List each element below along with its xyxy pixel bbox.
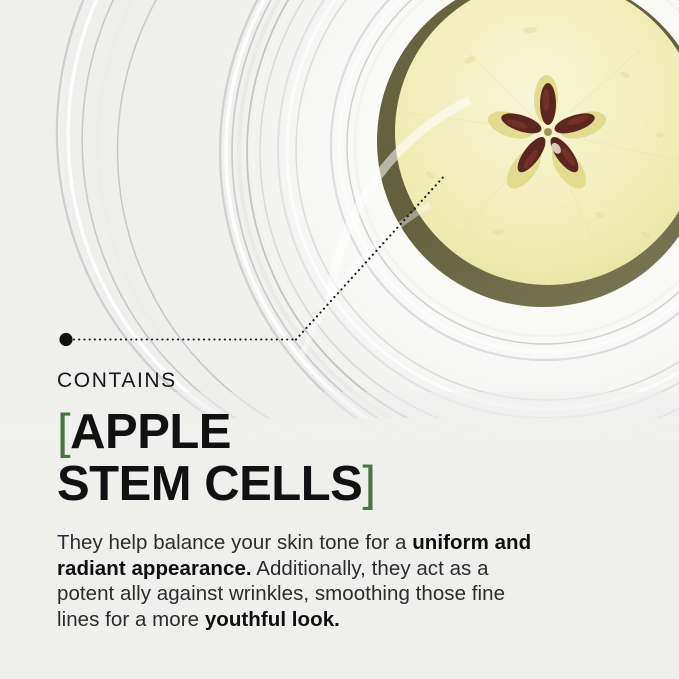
- body-bold-2: youthful look.: [205, 608, 340, 631]
- body-part-1: They help balance your skin tone for a: [57, 531, 412, 554]
- callout-dot: [59, 333, 72, 346]
- apple-carpels: [484, 75, 609, 195]
- close-bracket: ]: [362, 457, 375, 511]
- body-paragraph: They help balance your skin tone for a u…: [57, 530, 543, 632]
- headline-line-1: [APPLE: [57, 406, 617, 458]
- eyebrow-label: CONTAINS: [57, 368, 617, 394]
- headline-line-2: STEM CELLS]: [57, 458, 617, 510]
- promo-card: CONTAINS [APPLE STEM CELLS] They help ba…: [0, 0, 679, 679]
- copy-block: CONTAINS [APPLE STEM CELLS] They help ba…: [57, 368, 617, 632]
- headline-word-apple: APPLE: [70, 405, 231, 459]
- open-bracket: [: [57, 405, 70, 459]
- apple-seed-star: [499, 83, 597, 176]
- apple-slice: [395, 0, 679, 285]
- headline-word-stem-cells: STEM CELLS: [57, 457, 362, 511]
- leader-line-diagonal: [296, 174, 446, 340]
- apple-flesh-texture: [425, 26, 664, 239]
